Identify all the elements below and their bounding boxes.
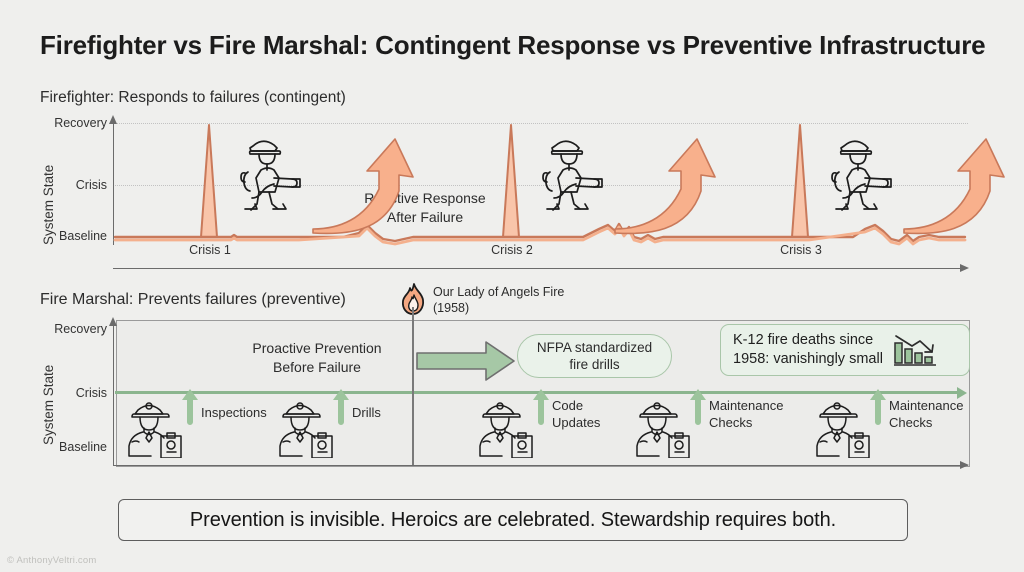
activity-up-arrow-icon [689, 388, 707, 430]
summary-banner: Prevention is invisible. Heroics are cel… [118, 499, 908, 541]
proactive-prevention-annotation: Proactive Prevention Before Failure [222, 339, 412, 377]
proactive-line-1: Proactive Prevention [252, 340, 381, 356]
watermark: © AnthonyVeltri.com [7, 555, 96, 566]
flame-icon [399, 282, 429, 316]
crisis-label-1: Crisis 1 [178, 243, 242, 257]
event-label-line-2: (1958) [433, 301, 469, 315]
fire-marshal-icon [476, 398, 538, 458]
bottom-ytick-baseline: Baseline [39, 440, 107, 454]
page-title: Firefighter vs Fire Marshal: Contingent … [40, 30, 985, 61]
activity-label-4-line-2: Checks [709, 415, 752, 430]
fire-marshal-icon [125, 398, 187, 458]
fire-marshal-icon [633, 398, 695, 458]
k12-line-2: 1958: vanishingly small [733, 351, 883, 367]
recovery-arrow-icon [611, 137, 719, 235]
recovery-arrow-icon [309, 137, 417, 235]
bottom-y-axis [113, 325, 114, 465]
fire-marshal-icon [276, 398, 338, 458]
nfpa-line-2: fire drills [569, 357, 619, 372]
activity-label-1: Inspections [201, 405, 267, 422]
declining-bar-chart-icon [892, 331, 938, 369]
fire-marshal-chart: System State Recovery Crisis Baseline Pr… [113, 325, 968, 465]
proactive-line-2: Before Failure [273, 359, 361, 375]
activity-up-arrow-icon [332, 388, 350, 430]
crisis-label-2: Crisis 2 [480, 243, 544, 257]
event-label: Our Lady of Angels Fire (1958) [433, 284, 564, 316]
event-label-line-1: Our Lady of Angels Fire [433, 285, 564, 299]
firefighter-icon [533, 132, 611, 214]
top-panel-caption: Firefighter: Responds to failures (conti… [40, 89, 346, 107]
bottom-ytick-recovery: Recovery [39, 322, 107, 336]
diagram-canvas: Firefighter vs Fire Marshal: Contingent … [0, 0, 1024, 572]
activity-label-2-line-1: Drills [352, 405, 381, 420]
firefighter-icon [231, 132, 309, 214]
nfpa-arrow-icon [416, 339, 516, 383]
activity-label-2: Drills [352, 405, 381, 422]
activity-label-3-line-1: Code [552, 398, 583, 413]
top-ytick-recovery: Recovery [39, 116, 107, 130]
bottom-x-axis [113, 465, 961, 466]
firefighter-icon [822, 132, 900, 214]
nfpa-outcome-pill: NFPA standardized fire drills [517, 334, 672, 378]
activity-up-arrow-icon [869, 388, 887, 430]
activity-label-4-line-1: Maintenance [709, 398, 783, 413]
top-ytick-crisis: Crisis [39, 178, 107, 192]
bottom-ytick-crisis: Crisis [39, 386, 107, 400]
bottom-y-axis-label: System State [41, 365, 56, 445]
top-ytick-baseline: Baseline [39, 229, 107, 243]
nfpa-line-1: NFPA standardized [537, 340, 652, 355]
activity-label-5: Maintenance Checks [889, 398, 963, 431]
bottom-panel-caption: Fire Marshal: Prevents failures (prevent… [40, 291, 346, 309]
activity-up-arrow-icon [181, 388, 199, 430]
k12-callout: K-12 fire deaths since 1958: vanishingly… [720, 324, 970, 376]
k12-line-1: K-12 fire deaths since [733, 332, 873, 348]
activity-label-5-line-1: Maintenance [889, 398, 963, 413]
firefighter-chart: System State Recovery Crisis Baseline [113, 123, 968, 268]
activity-up-arrow-icon [532, 388, 550, 430]
top-x-axis [113, 268, 961, 269]
fire-marshal-icon [813, 398, 875, 458]
recovery-arrow-icon [900, 137, 1008, 235]
event-vertical-line [412, 307, 414, 465]
activity-label-1-line-1: Inspections [201, 405, 267, 420]
activity-label-3-line-2: Updates [552, 415, 600, 430]
activity-label-3: Code Updates [552, 398, 600, 431]
activity-label-5-line-2: Checks [889, 415, 932, 430]
crisis-label-3: Crisis 3 [769, 243, 833, 257]
activity-label-4: Maintenance Checks [709, 398, 783, 431]
